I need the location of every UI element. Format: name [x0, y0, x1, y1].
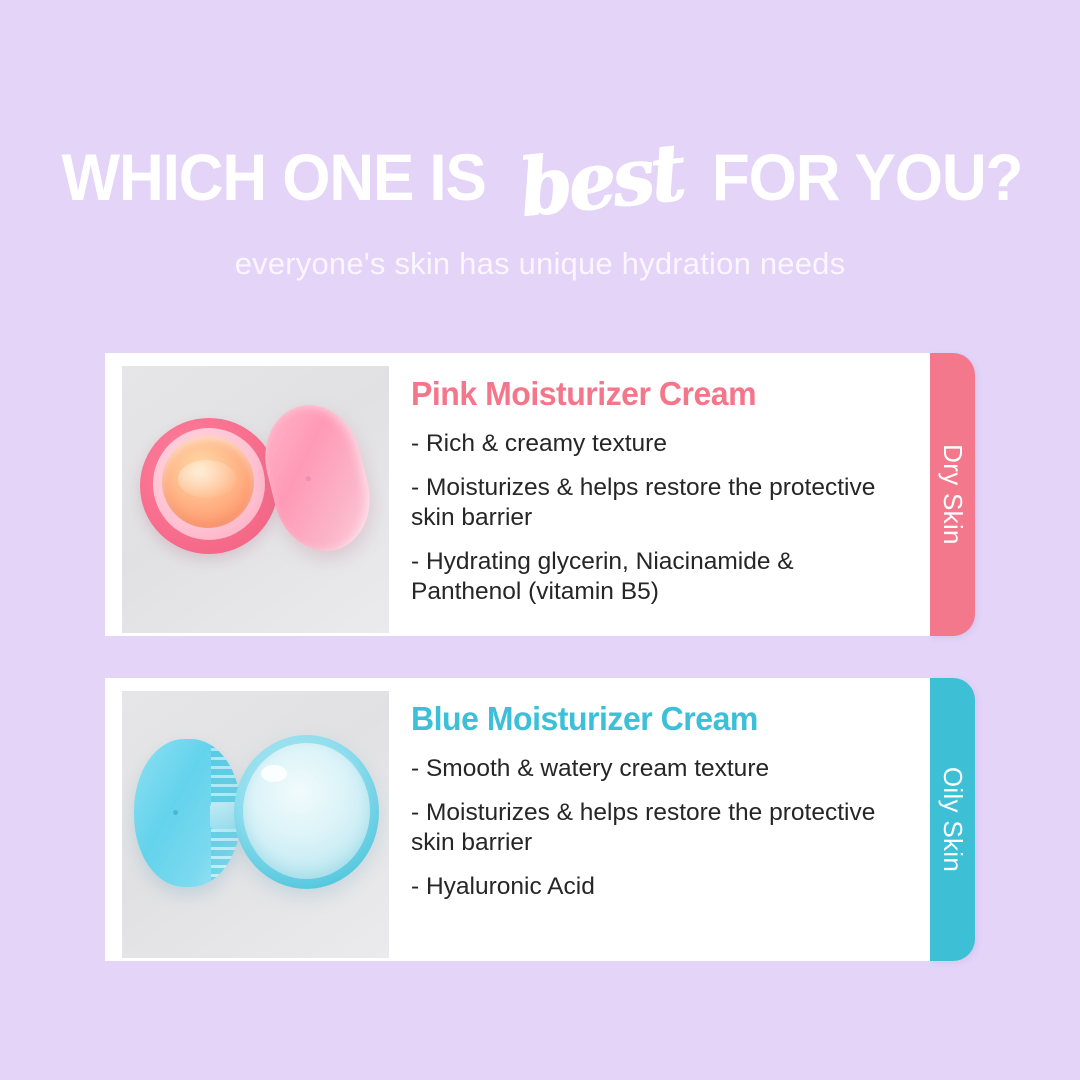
product-card-body: Blue Moisturizer Cream - Smooth & watery…	[105, 678, 930, 961]
product-bullet: - Moisturizes & helps restore the protec…	[411, 473, 881, 533]
blue-jar-illustration	[122, 691, 389, 958]
headline-lead-text: WHICH ONE IS	[61, 144, 485, 210]
skin-type-tab-dry[interactable]: Dry Skin	[930, 353, 975, 636]
pink-jar-lid-icon	[254, 395, 382, 562]
blue-gel-surface-icon	[243, 743, 370, 879]
product-photo-blue	[122, 691, 389, 958]
product-title-pink: Pink Moisturizer Cream	[411, 375, 893, 413]
product-details-pink: Pink Moisturizer Cream - Rich & creamy t…	[389, 353, 930, 606]
header: WHICH ONE IS best FOR YOU? everyone's sk…	[0, 0, 1080, 330]
product-photo-pink	[122, 366, 389, 633]
skin-type-tab-label: Dry Skin	[937, 444, 968, 545]
pink-jar-illustration	[122, 366, 389, 633]
product-card-body: Pink Moisturizer Cream - Rich & creamy t…	[105, 353, 930, 636]
product-bullet: - Hyaluronic Acid	[411, 872, 881, 902]
page-title: WHICH ONE IS best FOR YOU?	[48, 132, 1032, 212]
product-bullet: - Moisturizes & helps restore the protec…	[411, 798, 881, 858]
product-card-blue[interactable]: Blue Moisturizer Cream - Smooth & watery…	[105, 678, 975, 961]
page-subtitle: everyone's skin has unique hydration nee…	[235, 246, 846, 282]
product-bullet: - Rich & creamy texture	[411, 429, 881, 459]
headline-trail-text: FOR YOU?	[712, 144, 1022, 210]
product-title-blue: Blue Moisturizer Cream	[411, 700, 893, 738]
headline-script-word: best	[504, 130, 698, 229]
product-bullet: - Hydrating glycerin, Niacinamide & Pant…	[411, 547, 881, 607]
product-bullet: - Smooth & watery cream texture	[411, 754, 881, 784]
skin-type-tab-oily[interactable]: Oily Skin	[930, 678, 975, 961]
blue-jar-lid-dot-icon	[173, 810, 178, 815]
product-card-pink[interactable]: Pink Moisturizer Cream - Rich & creamy t…	[105, 353, 975, 636]
skin-type-tab-label: Oily Skin	[937, 767, 968, 872]
pink-cream-surface-icon	[162, 436, 254, 528]
product-details-blue: Blue Moisturizer Cream - Smooth & watery…	[389, 678, 930, 902]
